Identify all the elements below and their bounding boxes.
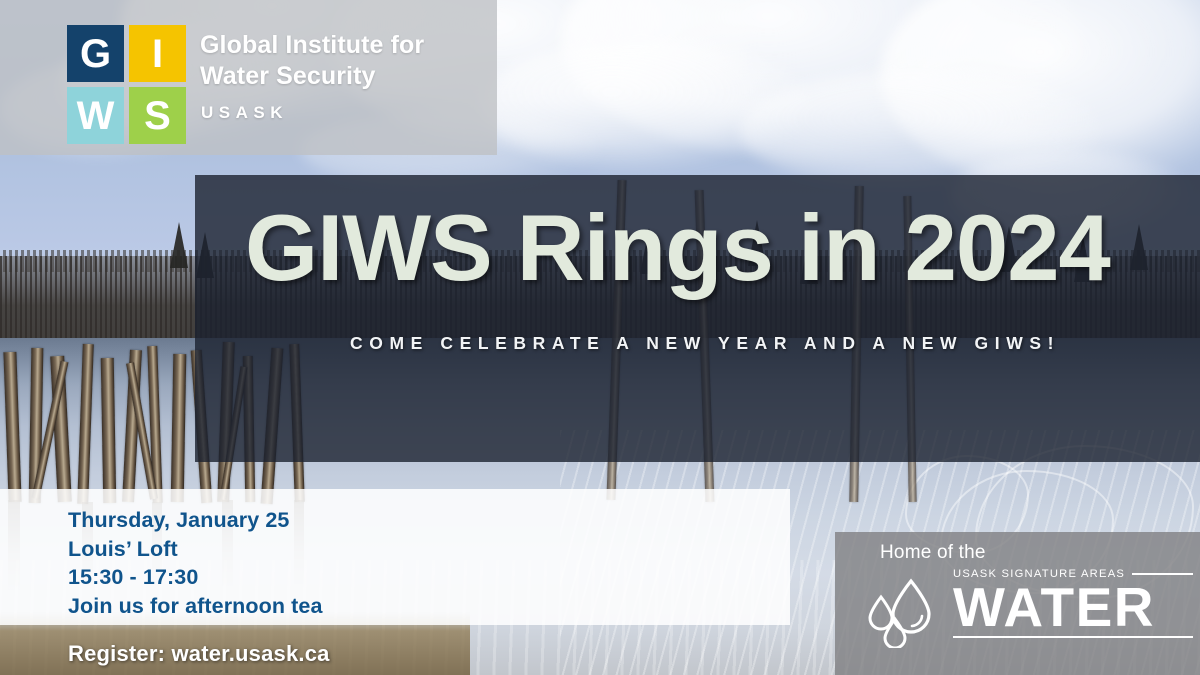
hero-title-band: GIWS Rings in 2024 COME CELEBRATE A NEW … <box>195 175 1200 462</box>
organization-name-line2: Water Security <box>200 61 424 92</box>
logo-cell-g: G <box>67 25 124 82</box>
page-subtitle: COME CELEBRATE A NEW YEAR AND A NEW GIWS… <box>350 333 1060 354</box>
organization-name: Global Institute for Water Security <box>200 30 424 92</box>
event-poster: G I W S Global Institute for Water Secur… <box>0 0 1200 675</box>
conifer-tree <box>170 222 188 268</box>
event-detail-venue: Louis’ Loft <box>68 535 323 564</box>
water-signature-area-badge: Home of the USASK SIGNATURE AREAS WATER <box>835 532 1200 675</box>
logo-letter: S <box>144 96 171 136</box>
logo-cell-w: W <box>67 87 124 144</box>
signature-areas-rule <box>1132 573 1193 575</box>
logo-cell-s: S <box>129 87 186 144</box>
water-droplets-icon <box>867 576 945 653</box>
logo-letter: W <box>77 96 115 136</box>
event-detail-time: 15:30 - 17:30 <box>68 563 323 592</box>
wooden-piling <box>171 354 187 502</box>
wooden-piling <box>101 358 117 503</box>
event-details-list: Thursday, January 25 Louis’ Loft 15:30 -… <box>68 506 323 620</box>
register-link[interactable]: Register: water.usask.ca <box>68 641 330 667</box>
logo-letter: G <box>80 34 111 74</box>
water-wordmark-text: WATER <box>953 581 1193 634</box>
event-detail-date: Thursday, January 25 <box>68 506 323 535</box>
header-logo-panel: G I W S Global Institute for Water Secur… <box>0 0 497 155</box>
giws-logo-mark: G I W S <box>67 25 186 144</box>
logo-letter: I <box>152 34 163 74</box>
event-detail-note: Join us for afternoon tea <box>68 592 323 621</box>
water-wordmark: USASK SIGNATURE AREAS WATER <box>953 568 1193 638</box>
affiliation-label: USASK <box>201 103 288 123</box>
logo-cell-i: I <box>129 25 186 82</box>
home-of-the-label: Home of the <box>880 542 986 564</box>
page-title: GIWS Rings in 2024 <box>245 201 1110 295</box>
event-details-panel: Thursday, January 25 Louis’ Loft 15:30 -… <box>0 489 790 625</box>
organization-name-line1: Global Institute for <box>200 30 424 61</box>
